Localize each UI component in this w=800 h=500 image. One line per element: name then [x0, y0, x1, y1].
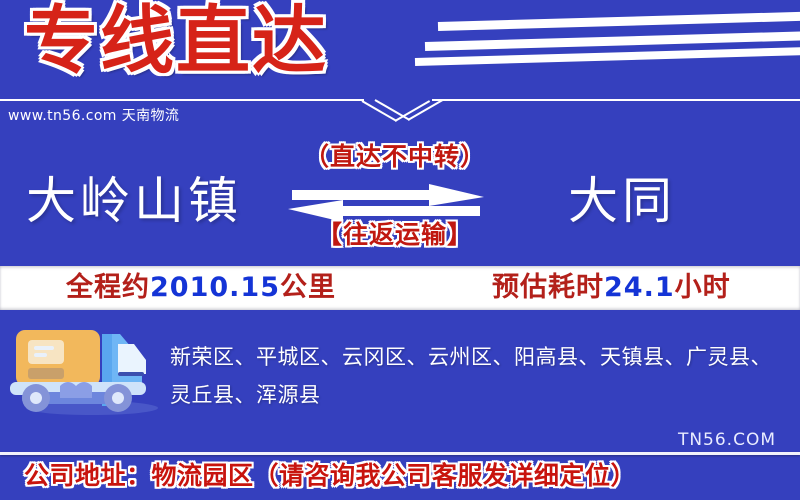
header-divider-right [432, 99, 800, 101]
header-divider-left [0, 99, 364, 101]
origin-city-label: 大岭山镇 [26, 176, 242, 226]
route-info-band: 全程约2010.15公里 预估耗时24.1小时 [0, 266, 800, 310]
coverage-area-list: 新荣区、平城区、云冈区、云州区、阳高县、天镇县、广灵县、灵丘县、浑源县 [170, 338, 790, 414]
distance-label: 全程约 [66, 272, 150, 303]
footer-divider [0, 452, 800, 455]
distance-unit: 公里 [280, 272, 336, 303]
duration-label: 预估耗时 [492, 272, 604, 303]
duration-value: 24.1 [604, 272, 675, 303]
site-url-brand-line: www.tn56.com 天南物流 [8, 105, 179, 125]
company-address-footer: 公司地址：物流园区（请咨询我公司客服发详细定位） [24, 458, 636, 494]
logistics-route-banner: 专线直达 www.tn56.com 天南物流 大岭山镇 大同 （直达不中转） 【… [0, 0, 800, 500]
estimated-duration-info: 预估耗时24.1小时 [492, 270, 731, 306]
destination-city-label: 大同 [568, 176, 676, 226]
duration-unit: 小时 [675, 272, 731, 303]
double-arrow-icon [288, 184, 484, 222]
banner-headline: 专线直达 [24, 4, 328, 78]
delivery-truck-icon [6, 312, 176, 416]
round-trip-note: 【往返运输】 [317, 222, 473, 247]
direct-no-transfer-note: （直达不中转） [304, 144, 486, 169]
diagonal-stripe-decoration [438, 11, 800, 31]
distance-value: 2010.15 [150, 272, 280, 303]
watermark-text: TN56.COM [678, 430, 776, 450]
total-distance-info: 全程约2010.15公里 [66, 270, 336, 306]
